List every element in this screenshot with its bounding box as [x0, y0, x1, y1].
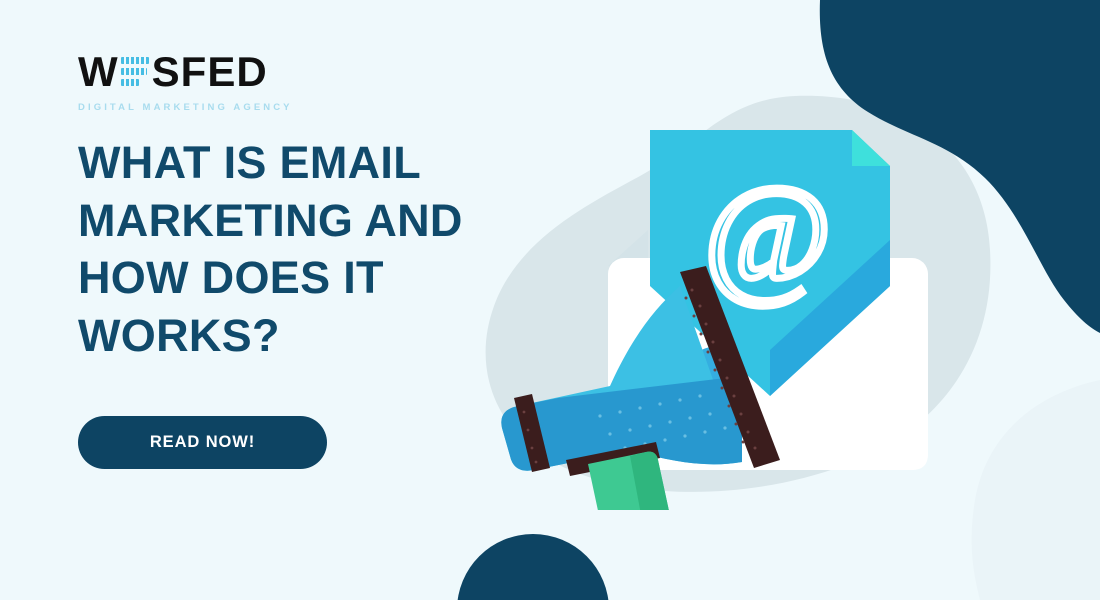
email-marketing-banner: W SFED DIGITAL MARKETING AGENCY WHAT IS …	[0, 0, 1100, 600]
logo-letters-sfed: SFED	[152, 51, 268, 93]
email-megaphone-illustration: @	[480, 90, 980, 510]
logo-wordmark: W SFED	[78, 50, 408, 94]
striped-e-bar-bottom	[121, 79, 139, 86]
striped-e-icon	[121, 57, 149, 88]
striped-e-bar-middle	[121, 68, 147, 75]
logo-tagline: DIGITAL MARKETING AGENCY	[78, 102, 408, 113]
brand-logo[interactable]: W SFED DIGITAL MARKETING AGENCY	[78, 50, 408, 113]
at-symbol: @	[704, 157, 831, 310]
page-title: WHAT IS EMAIL MARKETING AND HOW DOES IT …	[78, 134, 548, 364]
striped-e-bar-top	[121, 57, 149, 64]
read-now-button[interactable]: READ NOW!	[78, 416, 327, 469]
logo-letter-w: W	[78, 51, 119, 93]
letter-folded-corner	[852, 130, 890, 166]
